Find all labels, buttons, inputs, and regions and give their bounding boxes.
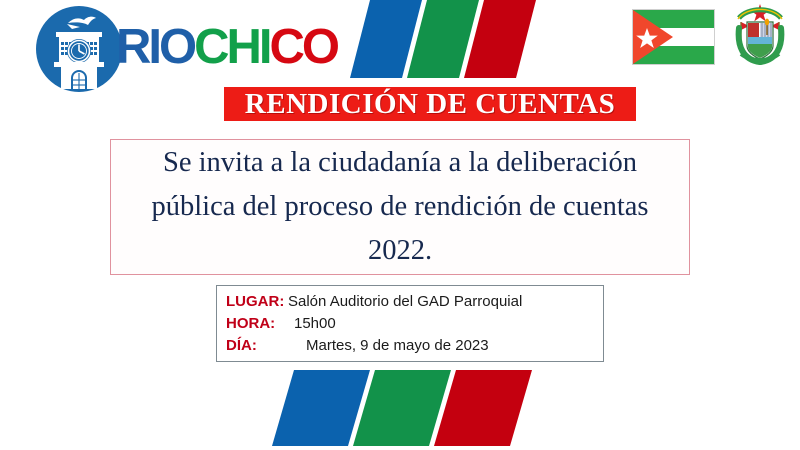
stripe-green: [353, 370, 451, 446]
event-details-box: LUGAR: Salón Auditorio del GAD Parroquia…: [216, 285, 604, 362]
wordmark-part-chi: CHI: [194, 20, 269, 74]
riochico-wordmark: RIOCHICO: [116, 18, 337, 76]
riochico-gad-emblem-icon: [34, 4, 124, 94]
detail-row-hora: HORA: 15h00: [226, 315, 603, 337]
detail-label-dia: DÍA:: [226, 337, 288, 354]
wordmark-part-rio: RIO: [116, 20, 194, 74]
banner-title: RENDICIÓN DE CUENTAS: [245, 88, 615, 121]
brand-lockup: RIOCHICO: [34, 2, 334, 92]
wordmark-part-co: CO: [270, 20, 338, 74]
manabi-province-flag-icon: [632, 9, 715, 65]
manabi-coat-of-arms-icon: [729, 2, 791, 70]
rendicion-banner: RENDICIÓN DE CUENTAS: [224, 87, 636, 121]
detail-row-dia: DÍA: Martes, 9 de mayo de 2023: [226, 337, 603, 359]
stripe-blue: [272, 370, 370, 446]
detail-label-hora: HORA:: [226, 315, 288, 332]
bottom-diagonal-stripes: [272, 370, 542, 450]
detail-row-lugar: LUGAR: Salón Auditorio del GAD Parroquia…: [226, 293, 603, 315]
invitation-text: Se invita a la ciudadanía a la deliberac…: [122, 141, 679, 273]
invitation-box: Se invita a la ciudadanía a la deliberac…: [110, 139, 690, 275]
top-diagonal-stripes: [350, 0, 540, 80]
detail-value-lugar: Salón Auditorio del GAD Parroquial: [288, 293, 522, 310]
stripe-red: [434, 370, 532, 446]
poster-canvas: RIOCHICO: [0, 0, 800, 450]
detail-value-dia: Martes, 9 de mayo de 2023: [288, 337, 489, 354]
detail-label-lugar: LUGAR:: [226, 293, 288, 310]
detail-value-hora: 15h00: [288, 315, 336, 332]
